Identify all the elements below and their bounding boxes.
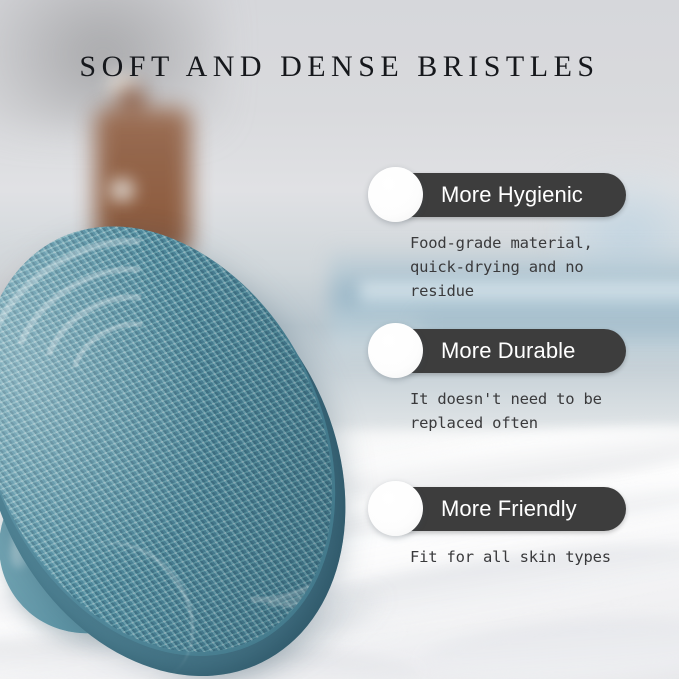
- feature-badge-label: More Hygienic: [441, 173, 583, 217]
- feature-item-durable: More Durable It doesn't need to be repla…: [368, 323, 626, 435]
- feature-badge[interactable]: More Hygienic: [368, 167, 626, 222]
- badge-circle-icon: [368, 167, 423, 222]
- feature-badge[interactable]: More Friendly: [368, 481, 626, 536]
- feature-item-friendly: More Friendly Fit for all skin types: [368, 481, 626, 569]
- badge-circle-icon: [368, 481, 423, 536]
- feature-list: More Hygienic Food-grade material, quick…: [0, 0, 679, 679]
- product-infographic: SOFT AND DENSE BRISTLES: [0, 0, 679, 679]
- feature-badge-label: More Durable: [441, 329, 575, 373]
- badge-circle-icon: [368, 323, 423, 378]
- feature-description: It doesn't need to be replaced often: [410, 387, 626, 435]
- feature-badge[interactable]: More Durable: [368, 323, 626, 378]
- feature-description: Fit for all skin types: [410, 545, 626, 569]
- feature-badge-label: More Friendly: [441, 487, 577, 531]
- feature-description: Food-grade material, quick-drying and no…: [410, 231, 626, 303]
- feature-item-hygienic: More Hygienic Food-grade material, quick…: [368, 167, 626, 303]
